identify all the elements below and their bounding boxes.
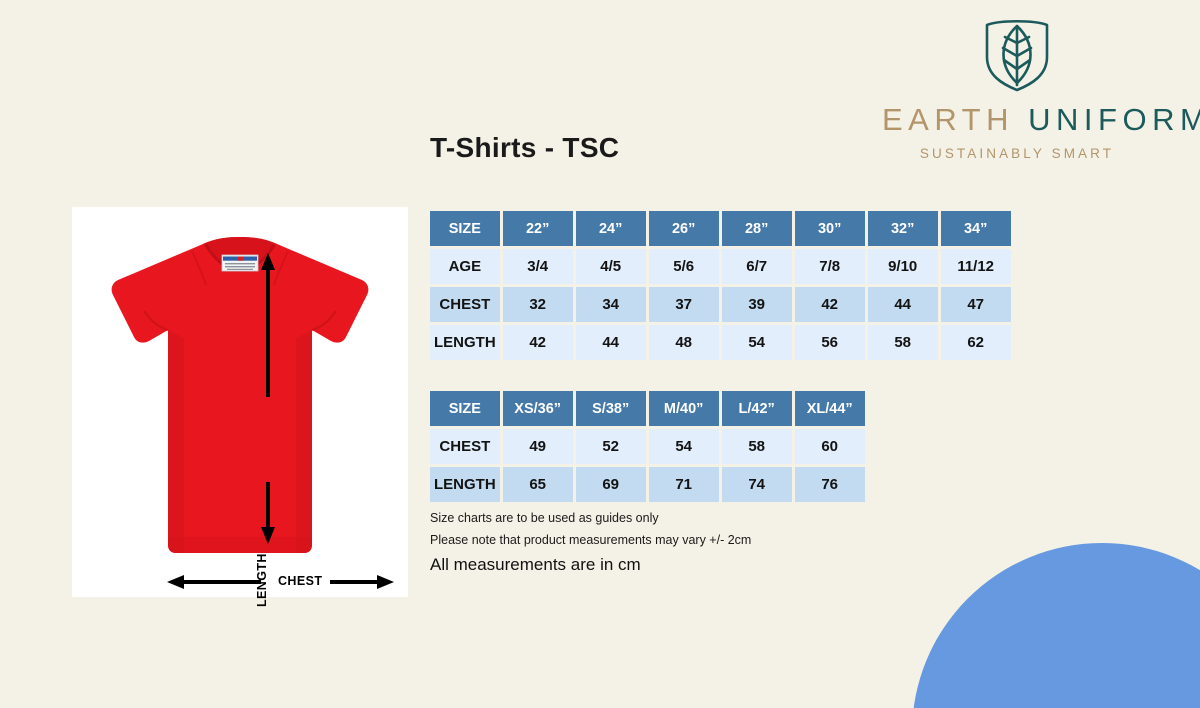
column-header: M/40” xyxy=(649,391,719,426)
table-cell: 71 xyxy=(649,467,719,502)
table-cell: 76 xyxy=(795,467,865,502)
column-header: 30” xyxy=(795,211,865,246)
table-cell: 44 xyxy=(576,325,646,360)
table-cell: 42 xyxy=(503,325,573,360)
table-header-row: SIZE 22” 24” 26” 28” 30” 32” 34” xyxy=(430,211,1011,246)
table-row: CHEST 32 34 37 39 42 44 47 xyxy=(430,287,1011,322)
decorative-blue-circle xyxy=(912,543,1200,708)
column-header: 34” xyxy=(941,211,1011,246)
neck-label-graphic xyxy=(222,255,258,271)
table-cell: 60 xyxy=(795,429,865,464)
product-image-panel: CHEST LENGTH xyxy=(72,207,408,597)
table-cell: 56 xyxy=(795,325,865,360)
note-units: All measurements are in cm xyxy=(430,555,751,575)
table-cell: 69 xyxy=(576,467,646,502)
brand-name-earth: EARTH xyxy=(882,102,1014,137)
table-cell: 11/12 xyxy=(941,249,1011,284)
table-cell: 6/7 xyxy=(722,249,792,284)
table-cell: 65 xyxy=(503,467,573,502)
table-cell: 74 xyxy=(722,467,792,502)
size-chart-notes: Size charts are to be used as guides onl… xyxy=(430,508,751,575)
brand-name-uniform: UNIFORM xyxy=(1028,102,1200,137)
table-cell: 37 xyxy=(649,287,719,322)
column-header: S/38” xyxy=(576,391,646,426)
table-cell: 32 xyxy=(503,287,573,322)
table-cell: 34 xyxy=(576,287,646,322)
table-cell: 44 xyxy=(868,287,938,322)
column-header: 24” xyxy=(576,211,646,246)
column-header: L/42” xyxy=(722,391,792,426)
table-cell: 49 xyxy=(503,429,573,464)
table-row: LENGTH 65 69 71 74 76 xyxy=(430,467,865,502)
column-header-size: SIZE xyxy=(430,211,500,246)
page-title: T-Shirts - TSC xyxy=(430,132,619,164)
column-header: 28” xyxy=(722,211,792,246)
table-row: AGE 3/4 4/5 5/6 6/7 7/8 9/10 11/12 xyxy=(430,249,1011,284)
row-label: AGE xyxy=(430,249,500,284)
length-annotation-label: LENGTH xyxy=(255,553,269,607)
table-cell: 39 xyxy=(722,287,792,322)
table-cell: 47 xyxy=(941,287,1011,322)
brand-tagline: SUSTAINABLY SMART xyxy=(882,146,1152,161)
table-cell: 52 xyxy=(576,429,646,464)
table-cell: 62 xyxy=(941,325,1011,360)
table-cell: 54 xyxy=(722,325,792,360)
chest-annotation-label: CHEST xyxy=(278,574,322,588)
table-cell: 7/8 xyxy=(795,249,865,284)
table-cell: 58 xyxy=(722,429,792,464)
row-label: LENGTH xyxy=(430,467,500,502)
row-label: CHEST xyxy=(430,287,500,322)
row-label: CHEST xyxy=(430,429,500,464)
table-cell: 54 xyxy=(649,429,719,464)
table-cell: 3/4 xyxy=(503,249,573,284)
column-header: 22” xyxy=(503,211,573,246)
brand-wordmark: EARTH UNIFORM xyxy=(882,104,1152,135)
table-row: LENGTH 42 44 48 54 56 58 62 xyxy=(430,325,1011,360)
table-cell: 5/6 xyxy=(649,249,719,284)
brand-logo: EARTH UNIFORM SUSTAINABLY SMART xyxy=(882,12,1152,161)
note-guides-only: Size charts are to be used as guides onl… xyxy=(430,508,751,530)
table-cell: 58 xyxy=(868,325,938,360)
table-header-row: SIZE XS/36” S/38” M/40” L/42” XL/44” xyxy=(430,391,865,426)
table-cell: 42 xyxy=(795,287,865,322)
table-cell: 48 xyxy=(649,325,719,360)
table-cell: 9/10 xyxy=(868,249,938,284)
row-label: LENGTH xyxy=(430,325,500,360)
column-header: 32” xyxy=(868,211,938,246)
kids-size-table: SIZE 22” 24” 26” 28” 30” 32” 34” AGE 3/4… xyxy=(427,208,1014,363)
shield-leaf-icon xyxy=(978,12,1056,92)
column-header: XL/44” xyxy=(795,391,865,426)
column-header: XS/36” xyxy=(503,391,573,426)
note-measurement-variance: Please note that product measurements ma… xyxy=(430,530,751,552)
adults-size-table: SIZE XS/36” S/38” M/40” L/42” XL/44” CHE… xyxy=(427,388,868,505)
column-header: 26” xyxy=(649,211,719,246)
column-header-size: SIZE xyxy=(430,391,500,426)
tshirt-illustration: CHEST LENGTH xyxy=(72,207,408,597)
table-cell: 4/5 xyxy=(576,249,646,284)
table-row: CHEST 49 52 54 58 60 xyxy=(430,429,865,464)
tshirt-graphic xyxy=(72,207,408,597)
